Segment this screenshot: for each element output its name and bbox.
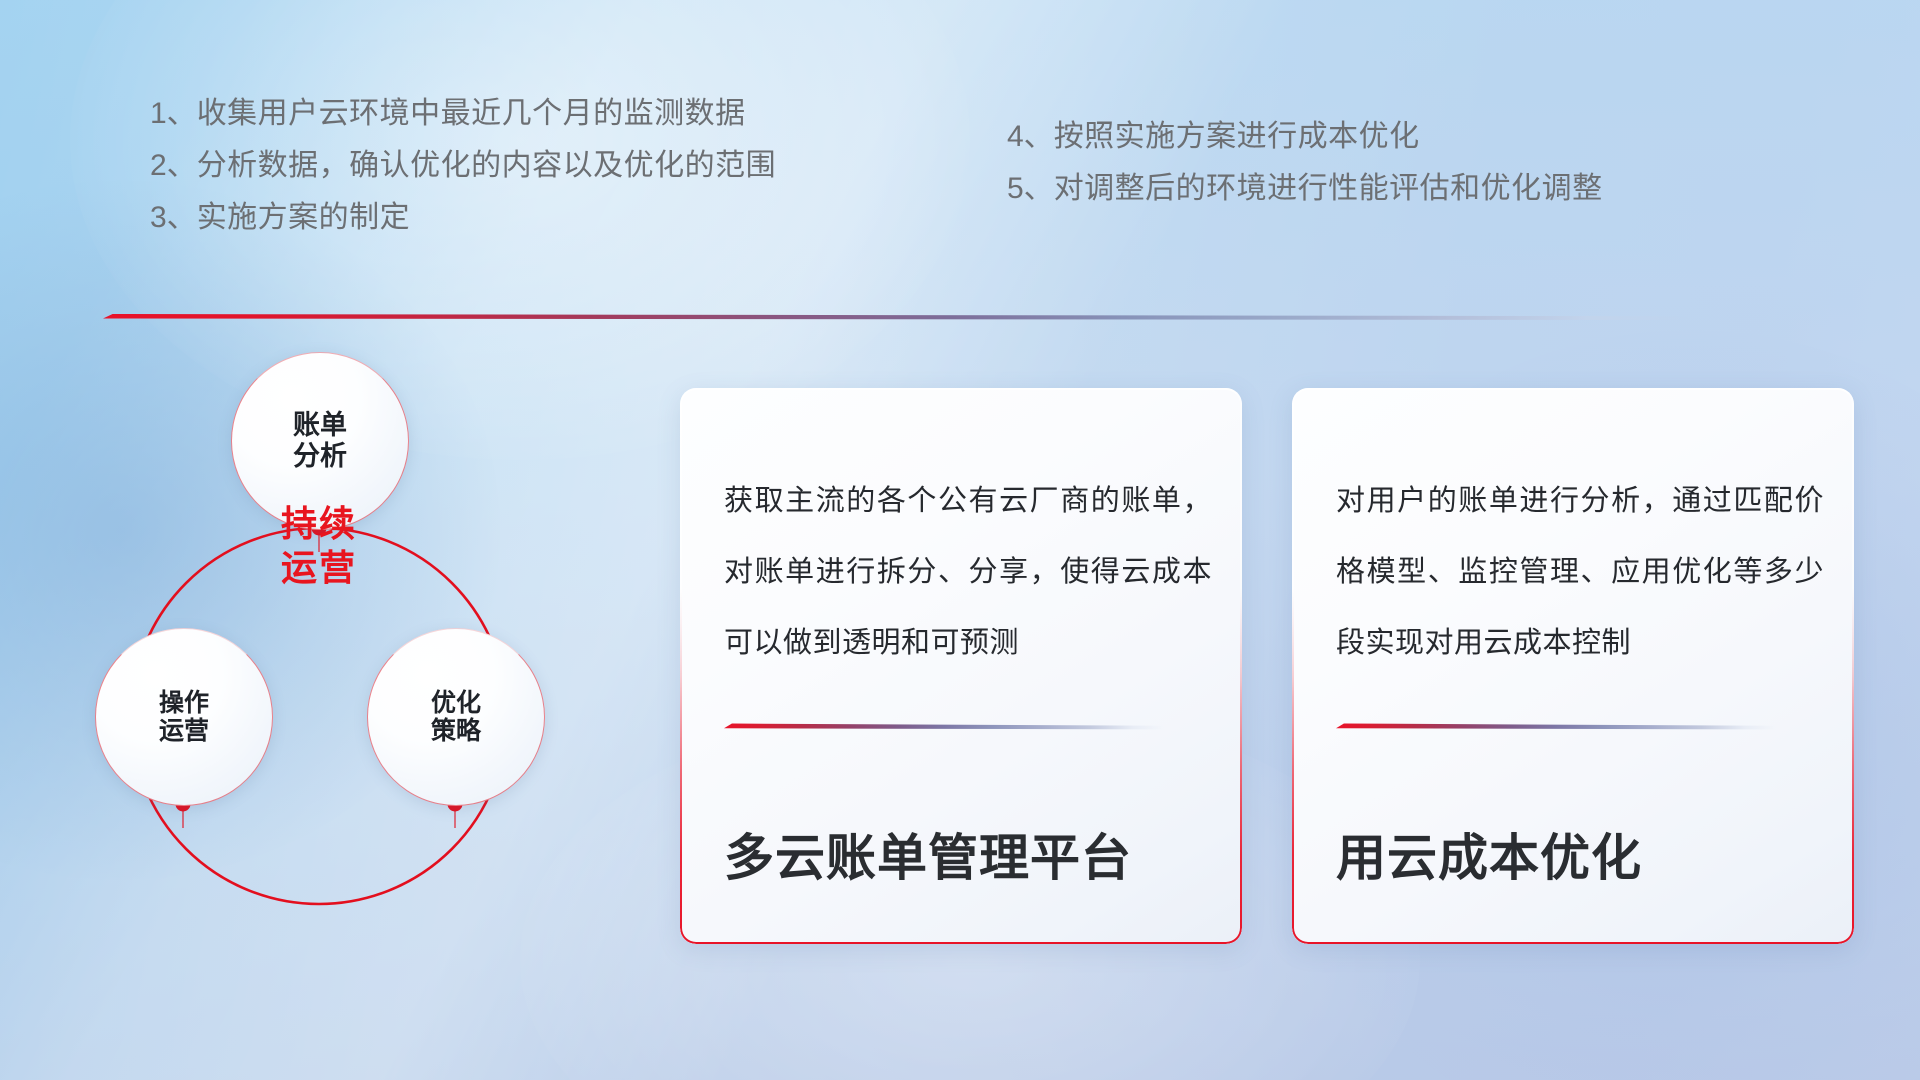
step-number: 2、 — [150, 149, 197, 182]
card-divider — [724, 723, 1164, 732]
card-cloud-cost-optimization[interactable]: 对用户的账单进行分析，通过匹配价格模型、监控管理、应用优化等多少段实现对用云成本… — [1292, 388, 1854, 944]
venn-bubble-label-line1: 账单 — [293, 410, 347, 441]
card-multi-cloud-billing[interactable]: 获取主流的各个公有云厂商的账单，对账单进行拆分、分享，使得云成本可以做到透明和可… — [680, 388, 1242, 944]
step-number: 4、 — [1007, 120, 1054, 153]
step-text: 按照实施方案进行成本优化 — [1054, 120, 1420, 153]
venn-bubble-label-line2: 分析 — [293, 441, 347, 472]
venn-center-label: 持续 运营 — [221, 502, 417, 590]
venn-bubble-label-line1: 操作 — [159, 689, 209, 718]
step-number: 1、 — [150, 97, 197, 130]
step-item: 1、收集用户云环境中最近几个月的监测数据 — [150, 99, 776, 129]
venn-center-label-line2: 运营 — [221, 546, 417, 590]
venn-bubble-label-line2: 运营 — [159, 717, 209, 746]
section-divider — [103, 313, 1698, 323]
step-item: 2、分析数据，确认优化的内容以及优化的范围 — [150, 151, 776, 181]
step-number: 5、 — [1007, 172, 1054, 205]
card-divider — [1336, 723, 1776, 732]
venn-center-label-line1: 持续 — [221, 502, 417, 546]
card-title: 多云账单管理平台 — [724, 818, 1132, 890]
continuous-operation-diagram: 账单 分析 操作 运营 优化 策略 持续 运营 — [95, 352, 635, 952]
steps-right-column: 4、按照实施方案进行成本优化 5、对调整后的环境进行性能评估和优化调整 — [1007, 122, 1603, 226]
steps-left-column: 1、收集用户云环境中最近几个月的监测数据 2、分析数据，确认优化的内容以及优化的… — [150, 99, 776, 255]
step-text: 收集用户云环境中最近几个月的监测数据 — [197, 97, 746, 130]
step-number: 3、 — [150, 201, 197, 234]
card-body-text: 获取主流的各个公有云厂商的账单，对账单进行拆分、分享，使得云成本可以做到透明和可… — [724, 466, 1212, 679]
step-text: 实施方案的制定 — [197, 201, 411, 234]
step-text: 对调整后的环境进行性能评估和优化调整 — [1054, 172, 1603, 205]
step-text: 分析数据，确认优化的内容以及优化的范围 — [197, 149, 777, 182]
venn-bubble-optimization-strategy[interactable]: 优化 策略 — [367, 628, 545, 806]
venn-bubble-label-line1: 优化 — [431, 689, 481, 718]
venn-bubble-operations[interactable]: 操作 运营 — [95, 628, 273, 806]
slide-canvas: 1、收集用户云环境中最近几个月的监测数据 2、分析数据，确认优化的内容以及优化的… — [0, 0, 1920, 1080]
step-item: 4、按照实施方案进行成本优化 — [1007, 122, 1603, 152]
step-item: 5、对调整后的环境进行性能评估和优化调整 — [1007, 174, 1603, 204]
card-title: 用云成本优化 — [1336, 818, 1642, 890]
step-item: 3、实施方案的制定 — [150, 203, 776, 233]
venn-bubble-label-line2: 策略 — [431, 717, 481, 746]
card-body-text: 对用户的账单进行分析，通过匹配价格模型、监控管理、应用优化等多少段实现对用云成本… — [1336, 466, 1824, 679]
